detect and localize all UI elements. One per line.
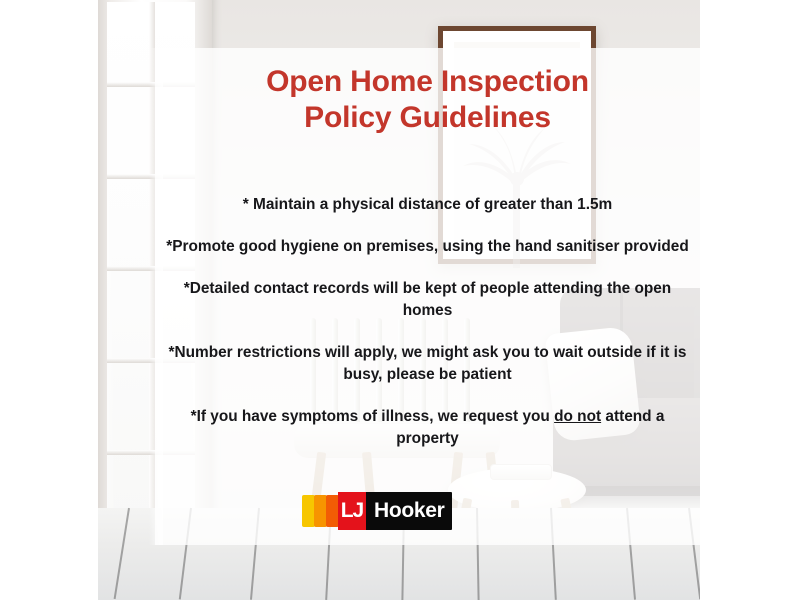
logo-mark: LJ <box>338 492 366 530</box>
floor-plank-seam <box>114 508 130 599</box>
logo-wordmark: Hooker <box>366 499 445 523</box>
list-item-final: *If you have symptoms of illness, we req… <box>155 406 700 450</box>
guideline-list: * Maintain a physical distance of greate… <box>155 194 700 470</box>
list-item: *Number restrictions will apply, we migh… <box>155 342 700 386</box>
page-title: Open Home Inspection Policy Guidelines <box>155 64 700 136</box>
list-item: * Maintain a physical distance of greate… <box>155 194 700 216</box>
poster-content: Open Home Inspection Policy Guidelines *… <box>155 48 700 545</box>
title-line-1: Open Home Inspection <box>155 64 700 100</box>
list-item: *Promote good hygiene on premises, using… <box>155 236 700 258</box>
final-bullet-before: *If you have symptoms of illness, we req… <box>191 408 555 425</box>
final-bullet-emphasis: do not <box>554 408 601 425</box>
letterbox-band-right <box>700 0 800 600</box>
logo-badge: LJ Hooker <box>338 492 452 530</box>
list-item: *Detailed contact records will be kept o… <box>155 278 700 322</box>
lj-hooker-logo: LJ Hooker <box>302 492 452 530</box>
title-line-2: Policy Guidelines <box>155 100 700 136</box>
letterbox-band-left <box>0 0 98 600</box>
poster-canvas: Open Home Inspection Policy Guidelines *… <box>0 0 800 600</box>
